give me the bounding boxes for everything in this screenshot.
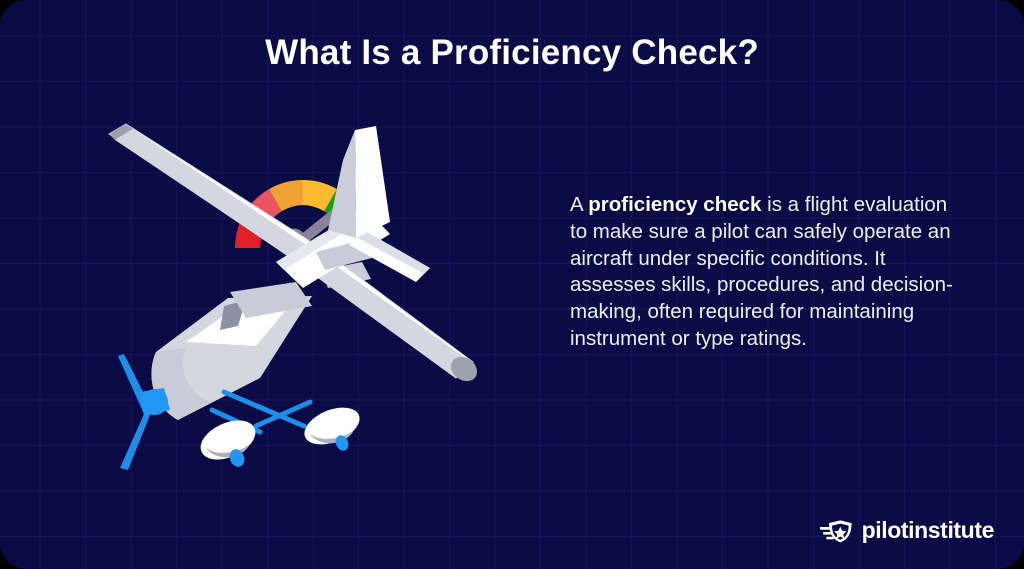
- brand-logo[interactable]: pilotinstitute: [820, 517, 994, 544]
- body-paragraph: A proficiency check is a flight evaluati…: [570, 192, 962, 353]
- airplane-wheel-fairing-rear: [299, 400, 365, 452]
- brand-logo-text: pilotinstitute: [862, 517, 994, 544]
- airplane-illustration: [109, 124, 482, 470]
- body-bold-term: proficiency check: [588, 193, 761, 216]
- airplane-vertical-stabilizer: [328, 126, 390, 238]
- illustration-gauge-and-airplane: [60, 110, 540, 480]
- page-title: What Is a Proficiency Check?: [0, 33, 1024, 73]
- infographic-card: What Is a Proficiency Check?: [0, 0, 1024, 569]
- winged-shield-star-icon: [820, 518, 854, 544]
- body-rest-text: is a flight evaluation to make sure a pi…: [570, 193, 953, 350]
- body-lead-text: A: [570, 193, 588, 216]
- airplane-wheel-fairing-front: [195, 413, 262, 469]
